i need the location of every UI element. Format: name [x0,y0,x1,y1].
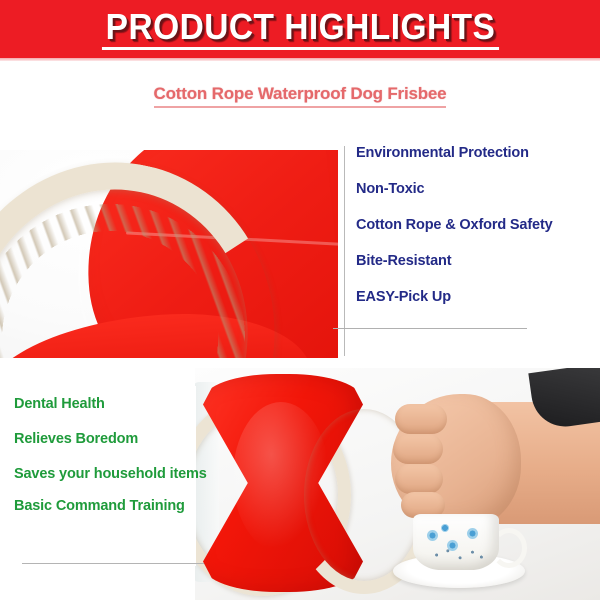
flower-motif-icon [467,528,478,539]
benefit-item: Dental Health [14,396,210,413]
feature-list-left: Dental Health Relieves Boredom Saves you… [14,396,210,533]
page-title: PRODUCT HIGHLIGHTS [101,8,498,50]
feature-list-left-items: Dental Health Relieves Boredom Saves you… [14,396,210,515]
feature-item: Environmental Protection [356,146,600,162]
finger [395,464,443,494]
horizontal-divider-left [22,563,204,564]
flower-motif-icon [427,530,438,541]
finger [393,434,443,464]
feature-list-right: Environmental Protection Non-Toxic Cotto… [356,146,600,326]
product-highlights-page: PRODUCT HIGHLIGHTS Cotton Rope Waterproo… [0,0,600,600]
finger [395,404,447,434]
flower-motif-icon [441,524,449,532]
product-subtitle: Cotton Rope Waterproof Dog Frisbee [154,84,447,108]
feature-list-right-items: Environmental Protection Non-Toxic Cotto… [356,146,600,306]
horizontal-divider-right [333,328,527,329]
header-banner: PRODUCT HIGHLIGHTS [0,0,600,58]
feature-item: Non-Toxic [356,182,600,198]
feature-item: Bite-Resistant [356,254,600,270]
product-photo-closeup [0,150,338,358]
feature-item: EASY-Pick Up [356,290,600,306]
subtitle-container: Cotton Rope Waterproof Dog Frisbee [0,84,600,108]
benefit-item: Relieves Boredom [14,431,210,448]
benefit-item: Saves your household items [14,466,210,483]
banner-bottom-edge [0,58,600,61]
vertical-divider [344,146,345,356]
flower-dots-pattern [431,548,487,562]
benefit-item: Basic Command Training [14,498,210,515]
feature-item: Cotton Rope & Oxford Safety [356,218,600,234]
product-photo-in-hand [195,368,600,600]
